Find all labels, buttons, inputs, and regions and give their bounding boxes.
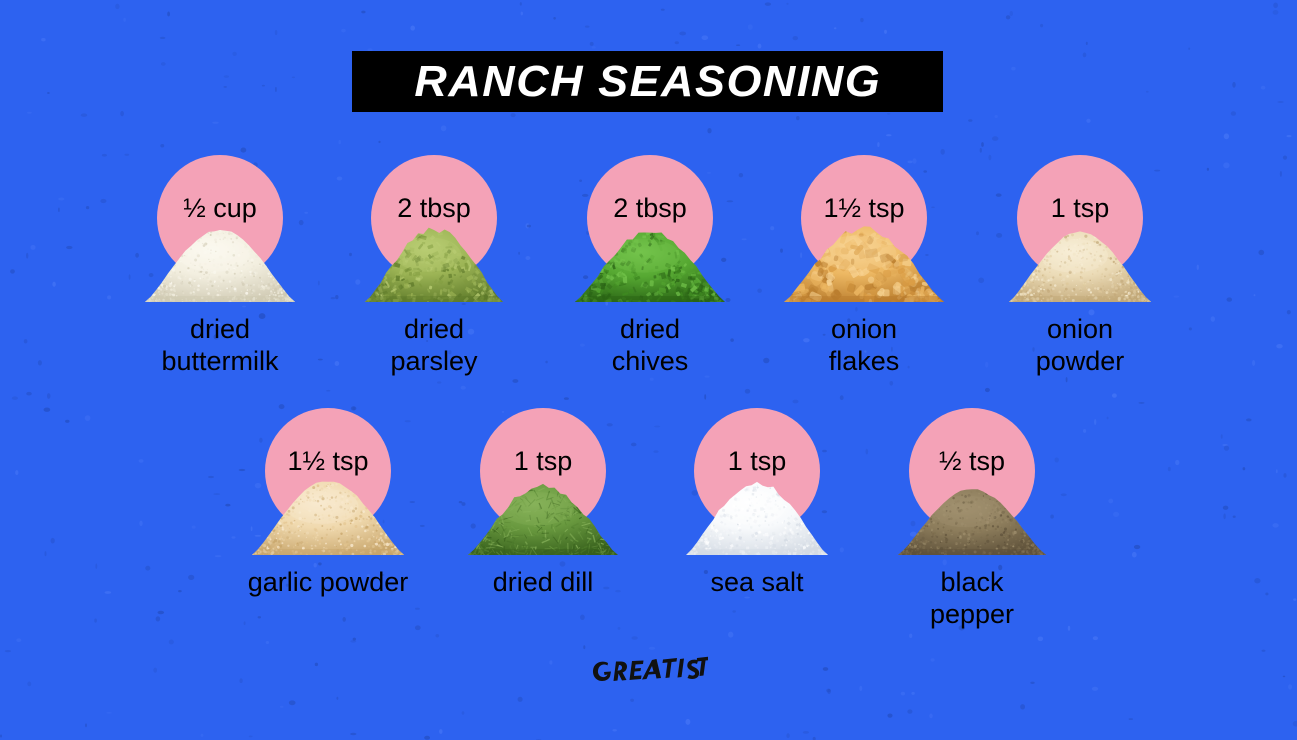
ingredient-label: onion flakes — [749, 314, 979, 378]
spice-pile-black-pepper-icon — [887, 474, 1057, 558]
title-banner: RANCH SEASONING — [352, 51, 943, 112]
ingredient-label: dried dill — [428, 567, 658, 599]
ingredient-visual: 1½ tsp — [213, 408, 443, 558]
ingredient-label: sea salt — [642, 567, 872, 599]
ingredient-visual: 1½ tsp — [749, 155, 979, 305]
spice-pile-dried-dill-icon — [458, 474, 628, 558]
amount-text: ½ cup — [105, 195, 335, 222]
ingredient-visual: 2 tbsp — [535, 155, 765, 305]
spice-pile-onion-powder-icon — [995, 221, 1165, 305]
ingredient-visual: ½ tsp — [857, 408, 1087, 558]
spice-pile-sea-salt-icon — [672, 474, 842, 558]
ingredient-dried-parsley: 2 tbspdried parsley — [319, 155, 549, 378]
amount-text: 2 tbsp — [319, 195, 549, 222]
ingredient-dried-buttermilk: ½ cupdried buttermilk — [105, 155, 335, 378]
ingredient-dried-chives: 2 tbspdried chives — [535, 155, 765, 378]
spice-pile-dried-buttermilk-icon — [135, 221, 305, 305]
amount-text: 1½ tsp — [749, 195, 979, 222]
spice-pile-dried-chives-icon — [565, 221, 735, 305]
brand-logo — [0, 655, 1297, 700]
amount-text: 1 tsp — [642, 448, 872, 475]
amount-text: 1 tsp — [428, 448, 658, 475]
amount-text: 1 tsp — [965, 195, 1195, 222]
ingredient-visual: 1 tsp — [642, 408, 872, 558]
page-title: RANCH SEASONING — [414, 57, 881, 107]
ingredient-label: dried buttermilk — [105, 314, 335, 378]
ingredient-visual: ½ cup — [105, 155, 335, 305]
ingredient-dried-dill: 1 tspdried dill — [428, 408, 658, 599]
amount-text: 2 tbsp — [535, 195, 765, 222]
ingredient-black-pepper: ½ tspblack pepper — [857, 408, 1087, 631]
ingredient-label: onion powder — [965, 314, 1195, 378]
amount-text: ½ tsp — [857, 448, 1087, 475]
greatist-wordmark-icon — [590, 655, 708, 695]
amount-text: 1½ tsp — [213, 448, 443, 475]
ingredient-visual: 1 tsp — [428, 408, 658, 558]
ingredient-garlic-powder: 1½ tspgarlic powder — [213, 408, 443, 599]
ingredient-label: dried parsley — [319, 314, 549, 378]
ingredient-label: dried chives — [535, 314, 765, 378]
ingredient-onion-flakes: 1½ tsponion flakes — [749, 155, 979, 378]
spice-pile-dried-parsley-icon — [349, 221, 519, 305]
spice-pile-onion-flakes-icon — [779, 221, 949, 305]
ingredient-label: garlic powder — [213, 567, 443, 599]
spice-pile-garlic-powder-icon — [243, 474, 413, 558]
ingredient-label: black pepper — [857, 567, 1087, 631]
ingredient-visual: 1 tsp — [965, 155, 1195, 305]
ingredient-onion-powder: 1 tsponion powder — [965, 155, 1195, 378]
ingredient-sea-salt: 1 tspsea salt — [642, 408, 872, 599]
ingredient-visual: 2 tbsp — [319, 155, 549, 305]
